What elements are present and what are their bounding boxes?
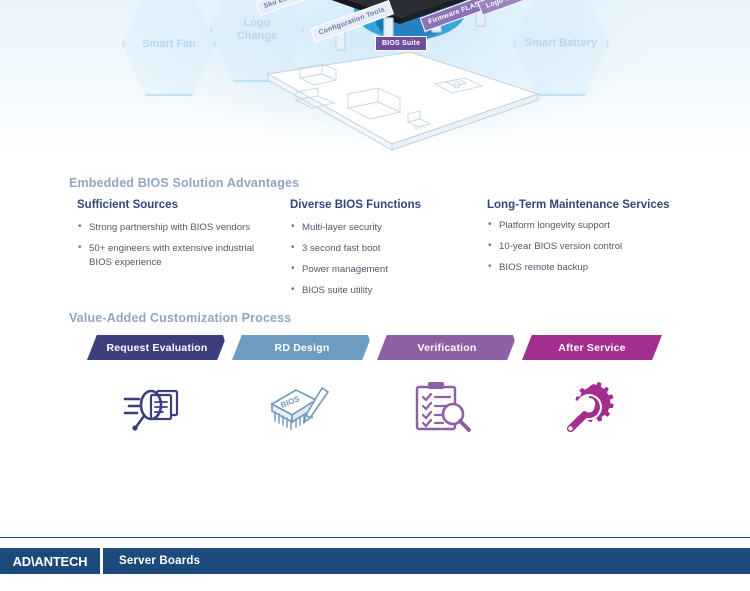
list-item: BIOS suite utility: [290, 284, 480, 298]
process-stage-request-evaluation: Request Evaluation: [78, 335, 238, 455]
gear-wrench-icon: [513, 365, 665, 449]
column-title: Sufficient Sources: [77, 198, 267, 212]
footer-bar: AD\ANTECH Server Boards: [0, 548, 750, 574]
process-heading: Value-Added Customization Process: [69, 311, 291, 325]
hexagon-label: Smart Battery: [525, 37, 597, 50]
hero-banner: Smart Fan Logo Change Smart Battery: [0, 0, 750, 160]
stage-label: Verification: [417, 342, 476, 354]
advantage-column-diverse-bios-functions: Diverse BIOS Functions Multi-layer secur…: [290, 198, 480, 305]
stage-label: Request Evaluation: [106, 342, 207, 354]
column-bullet-list: Multi-layer security 3 second fast boot …: [290, 221, 480, 298]
column-bullet-list: Platform longevity support 10-year BIOS …: [487, 219, 687, 275]
advantages-heading: Embedded BIOS Solution Advantages: [69, 176, 299, 190]
list-item: Power management: [290, 263, 480, 277]
ribbon-label: BIOS Suite: [382, 40, 420, 47]
advantage-column-long-term-maintenance-services: Long-Term Maintenance Services Platform …: [487, 198, 687, 282]
column-bullet-list: Strong partnership with BIOS vendors 50+…: [77, 221, 267, 270]
bios-chip-pencil-icon: BIOS: [223, 365, 375, 449]
hexagon-smart-fan: Smart Fan: [122, 0, 216, 96]
process-stage-after-service: After Service: [513, 335, 673, 455]
stage-label: RD Design: [275, 342, 330, 354]
hexagon-label: Logo Change: [237, 17, 277, 42]
process-stage-rd-design: RD Design: [223, 335, 383, 455]
ribbon-label: Logo Change: [485, 0, 531, 10]
advantech-logo: AD\ANTECH: [0, 554, 100, 569]
stage-banner: After Service: [522, 335, 662, 360]
footer-title: Server Boards: [103, 555, 200, 567]
column-title: Diverse BIOS Functions: [290, 198, 480, 212]
stage-banner: Request Evaluation: [87, 335, 227, 360]
list-item: BIOS remote backup: [487, 261, 687, 275]
list-item: 3 second fast boot: [290, 242, 480, 256]
list-item: 10-year BIOS version control: [487, 240, 687, 254]
hexagon-label: Smart Fan: [142, 38, 196, 51]
stage-banner: RD Design: [232, 335, 372, 360]
list-item: Strong partnership with BIOS vendors: [77, 221, 267, 235]
motherboard-wireframe-icon: [260, 52, 540, 157]
footer-divider: [0, 537, 750, 538]
list-item: Multi-layer security: [290, 221, 480, 235]
column-title: Long-Term Maintenance Services: [487, 198, 687, 212]
advantage-column-sufficient-sources: Sufficient Sources Strong partnership wi…: [77, 198, 267, 277]
list-item: Platform longevity support: [487, 219, 687, 233]
stage-banner: Verification: [377, 335, 517, 360]
customization-process-flow: Request Evaluation: [78, 335, 678, 455]
magnifier-documents-icon: [78, 365, 230, 449]
list-item: 50+ engineers with extensive industrial …: [77, 242, 267, 270]
stage-label: After Service: [558, 342, 625, 354]
process-stage-verification: Verification: [368, 335, 528, 455]
clipboard-checklist-magnifier-icon: [368, 365, 520, 449]
ribbon-bios-suite: BIOS Suite: [375, 36, 427, 51]
